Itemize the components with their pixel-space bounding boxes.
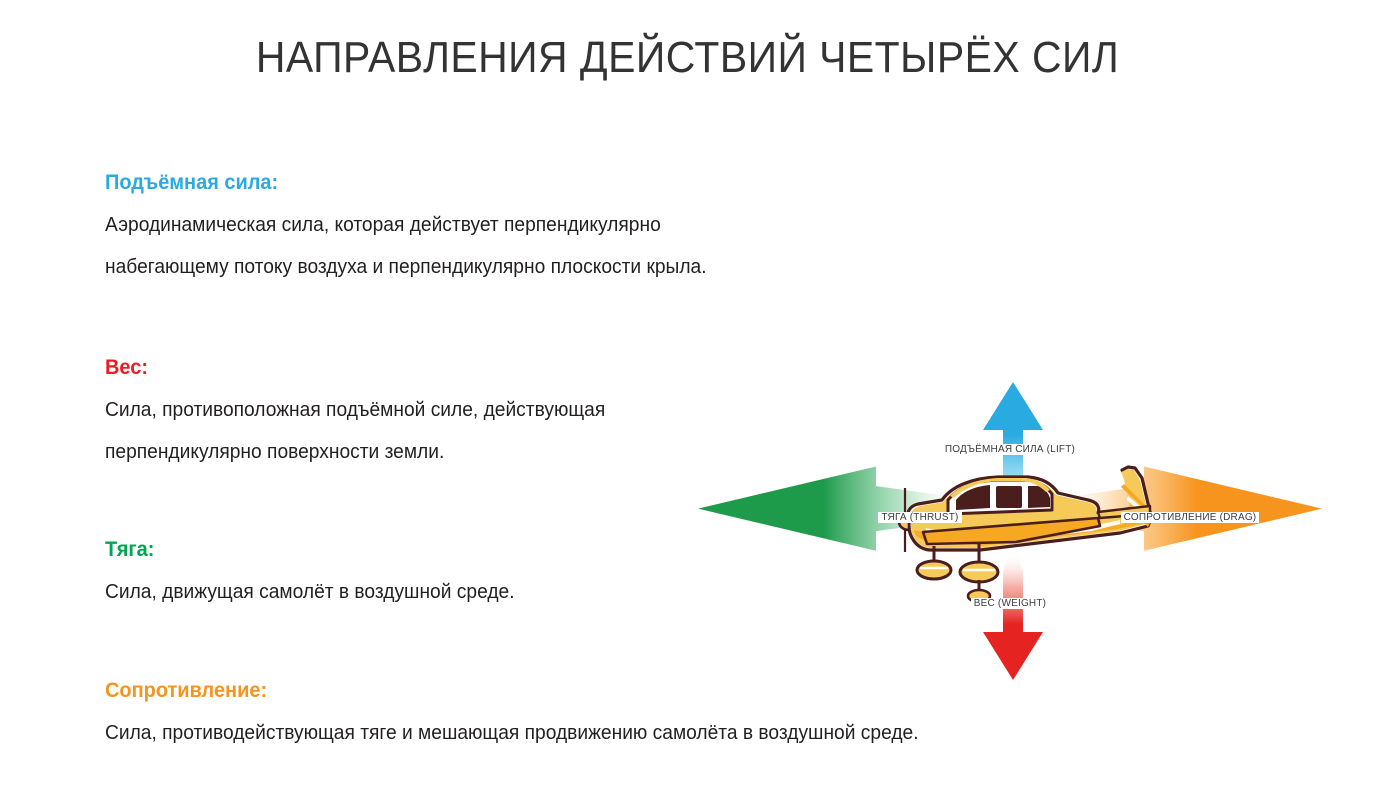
force-description-lift-line-2: набегающему потоку воздуха и перпендикул… (105, 246, 707, 288)
page-title: НАПРАВЛЕНИЯ ДЕЙСТВИЙ ЧЕТЫРЁХ СИЛ (48, 30, 1327, 86)
arrow-label-thrust-span: ТЯГА (THRUST) (878, 512, 961, 523)
force-description-weight: Сила, противоположная подъёмной силе, де… (105, 389, 605, 473)
force-description-drag-line-1: Сила, противодействующая тяге и мешающая… (105, 712, 919, 754)
force-heading-thrust: Тяга: (105, 535, 510, 565)
aircraft-illustration (899, 467, 1152, 602)
force-block-lift: Подъёмная сила: Аэродинамическая сила, к… (105, 168, 732, 288)
arrow-label-thrust-text: ТЯГА (THRUST) (830, 512, 1010, 523)
force-description-drag: Сила, противодействующая тяге и мешающая… (105, 712, 919, 754)
force-heading-lift: Подъёмная сила: (105, 168, 700, 198)
arrow-labels (928, 632, 1104, 648)
arrow-label-weight-span: ВЕС (WEIGHT) (971, 598, 1049, 609)
arrow-label-lift-text: ПОДЪЁМНАЯ СИЛА (LIFT) (680, 444, 1340, 455)
force-description-thrust-line-1: Сила, движущая самолёт в воздушной среде… (105, 571, 515, 613)
force-description-lift-line-1: Аэродинамическая сила, которая действует… (105, 204, 707, 246)
four-forces-diagram: ПОДЪЁМНАЯ СИЛА (LIFT) ТЯГА (THRUST) СОПР… (680, 360, 1340, 690)
arrow-label-weight-text: ВЕС (WEIGHT) (680, 598, 1340, 609)
arrow-label-drag-span: СОПРОТИВЛЕНИЕ (DRAG) (1121, 512, 1260, 523)
arrow-label-drag-text: СОПРОТИВЛЕНИЕ (DRAG) (1070, 512, 1310, 523)
force-description-thrust: Сила, движущая самолёт в воздушной среде… (105, 571, 515, 613)
force-block-weight: Вес: Сила, противоположная подъёмной сил… (105, 353, 626, 473)
force-description-weight-line-2: перпендикулярно поверхности земли. (105, 431, 605, 473)
arrow-label-lift-span: ПОДЪЁМНАЯ СИЛА (LIFT) (942, 444, 1078, 455)
force-description-lift: Аэродинамическая сила, которая действует… (105, 204, 707, 288)
force-description-weight-line-1: Сила, противоположная подъёмной силе, де… (105, 389, 605, 431)
force-heading-weight: Вес: (105, 353, 600, 383)
force-block-thrust: Тяга: Сила, движущая самолёт в воздушной… (105, 535, 532, 613)
